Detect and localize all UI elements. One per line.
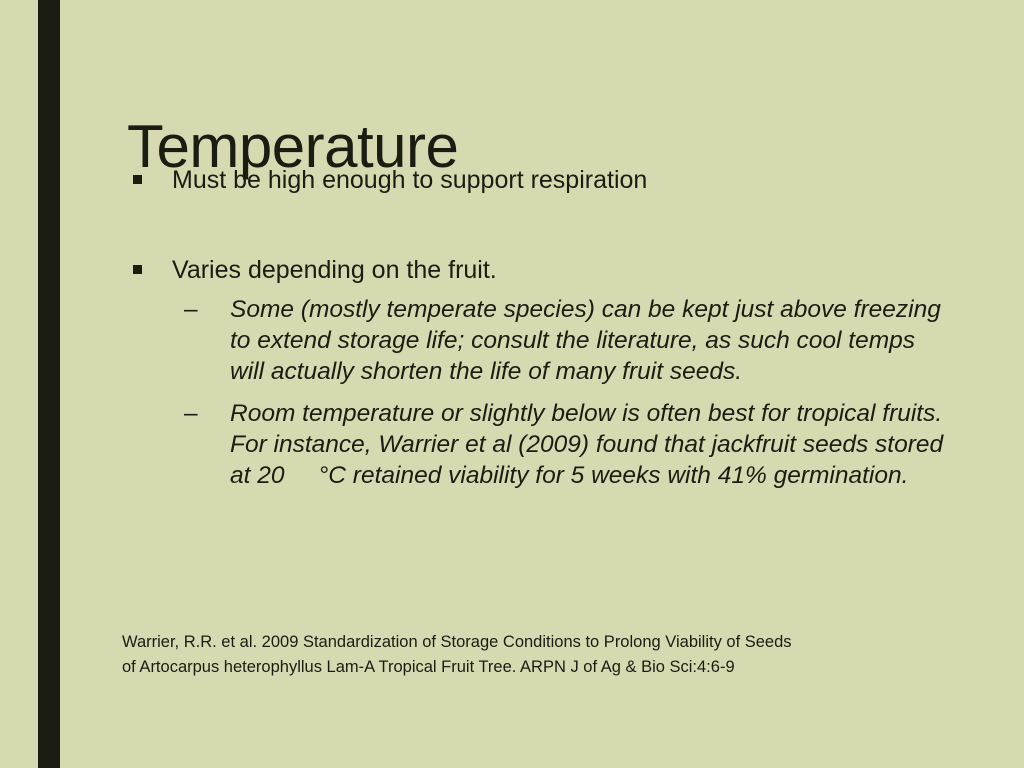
bullet-list: Must be high enough to support respirati… bbox=[122, 164, 952, 491]
sub-bullet-text-after-gap: °C retained viability for 5 weeks with 4… bbox=[319, 462, 909, 489]
sub-bullet-text: Some (mostly temperate species) can be k… bbox=[230, 296, 941, 385]
list-item: – Room temperature or slightly below is … bbox=[172, 398, 952, 491]
dash-bullet-icon: – bbox=[184, 398, 198, 429]
citation-line-2: of Artocarpus heterophyllus Lam-A Tropic… bbox=[122, 655, 962, 680]
list-item: Varies depending on the fruit. – Some (m… bbox=[122, 254, 952, 491]
square-bullet-icon bbox=[133, 265, 142, 274]
sub-bullet-list: – Some (mostly temperate species) can be… bbox=[172, 294, 952, 491]
bullet-text: Must be high enough to support respirati… bbox=[172, 166, 647, 194]
dash-bullet-icon: – bbox=[184, 294, 198, 325]
bullet-text: Varies depending on the fruit. bbox=[172, 256, 497, 284]
list-item: – Some (mostly temperate species) can be… bbox=[172, 294, 952, 387]
citation-line-1: Warrier, R.R. et al. 2009 Standardizatio… bbox=[122, 630, 962, 655]
list-item: Must be high enough to support respirati… bbox=[122, 164, 952, 196]
presentation-slide: Temperature Must be high enough to suppo… bbox=[0, 0, 1024, 768]
slide-content: Temperature Must be high enough to suppo… bbox=[122, 0, 1002, 768]
left-accent-bar bbox=[38, 0, 60, 768]
square-bullet-icon bbox=[133, 175, 142, 184]
citation-footer: Warrier, R.R. et al. 2009 Standardizatio… bbox=[122, 630, 962, 680]
